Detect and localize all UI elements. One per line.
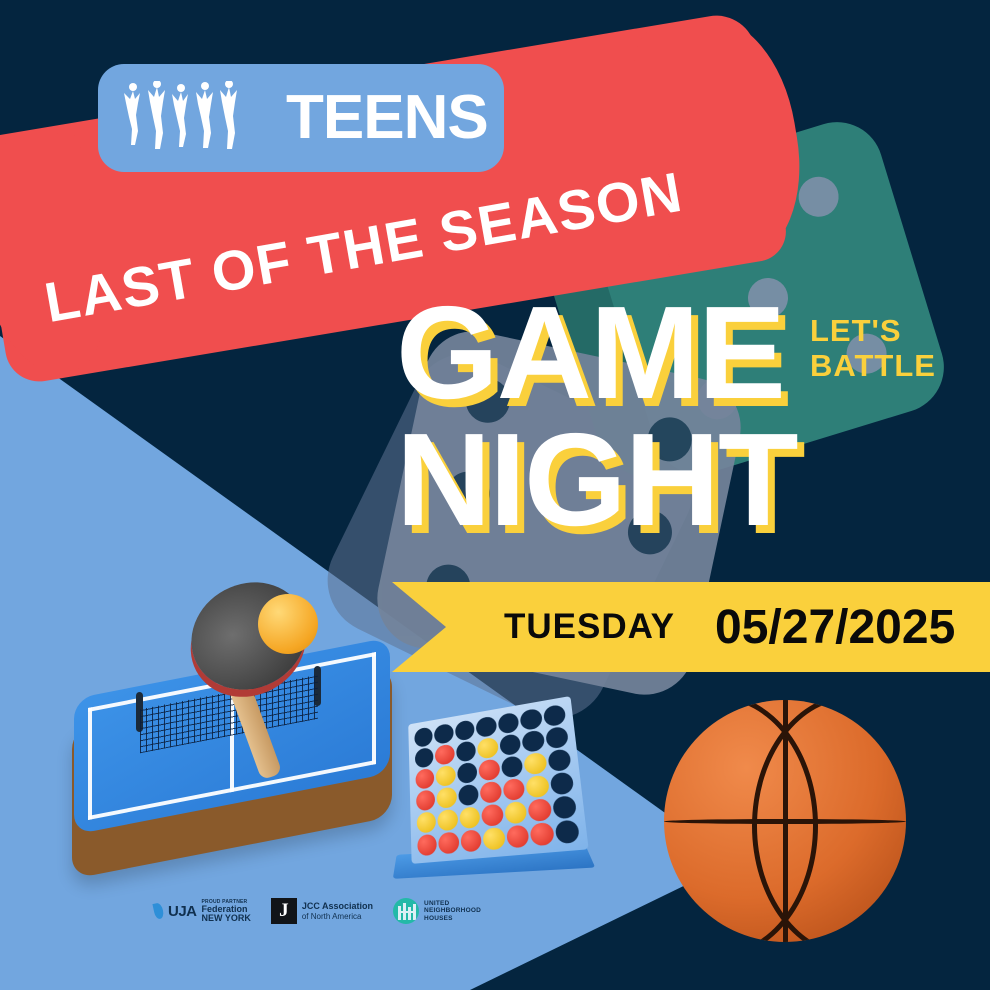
event-poster: TEENS LAST OF THE SEASON GAME LET'S BATT…	[0, 0, 990, 990]
sponsor-logo-united-neighborhood-houses: UNITED NEIGHBORHOOD HOUSES	[393, 898, 481, 924]
teens-badge: TEENS	[98, 64, 504, 172]
sponsor-logo-jcc-association: J JCC Association of North America	[271, 898, 373, 924]
night-title-row: NIGHT	[0, 419, 990, 540]
jcc-line-1: JCC Association	[302, 901, 373, 911]
unh-text-stack: UNITED NEIGHBORHOOD HOUSES	[424, 900, 481, 923]
connect-four-grid	[408, 696, 588, 864]
unh-line-3: HOUSES	[424, 915, 481, 923]
unh-line-1: UNITED	[424, 900, 481, 908]
date-banner: TUESDAY 05/27/2025	[392, 582, 990, 672]
title-night: NIGHT	[396, 419, 990, 540]
event-day: TUESDAY	[504, 607, 675, 647]
jcc-monogram-icon: J	[271, 898, 297, 924]
event-date: 05/27/2025	[715, 600, 955, 655]
tagline-line-1: LET'S	[810, 314, 936, 349]
unh-circle-icon	[393, 898, 419, 924]
ping-pong-ball	[258, 594, 318, 654]
main-title-block: GAME LET'S BATTLE NIGHT	[0, 292, 990, 541]
die-pip	[794, 172, 844, 222]
teens-badge-label: TEENS	[286, 87, 488, 149]
ping-pong-table	[62, 588, 412, 888]
jumping-people-icon	[122, 81, 272, 155]
game-title-row: GAME LET'S BATTLE	[0, 292, 990, 413]
tagline-line-2: BATTLE	[810, 349, 936, 384]
sponsor-logo-row: UJA PROUD PARTNER Federation NEW YORK J …	[154, 886, 486, 936]
uja-line-2: NEW YORK	[202, 914, 251, 923]
jcc-text-stack: JCC Association of North America	[302, 901, 373, 921]
unh-line-2: NEIGHBORHOOD	[424, 907, 481, 915]
connect-four-board	[396, 706, 600, 892]
jcc-line-2: of North America	[302, 912, 373, 921]
title-game: GAME	[396, 292, 784, 413]
basketball	[664, 700, 906, 942]
table-line	[372, 652, 376, 765]
tagline-lets-battle: LET'S BATTLE	[810, 314, 936, 383]
uja-text-stack: PROUD PARTNER Federation NEW YORK	[202, 900, 251, 923]
uja-abbreviation: UJA	[168, 903, 197, 920]
table-line	[88, 707, 92, 820]
flame-icon	[152, 902, 164, 920]
sponsor-logo-uja-federation: UJA PROUD PARTNER Federation NEW YORK	[154, 900, 251, 923]
